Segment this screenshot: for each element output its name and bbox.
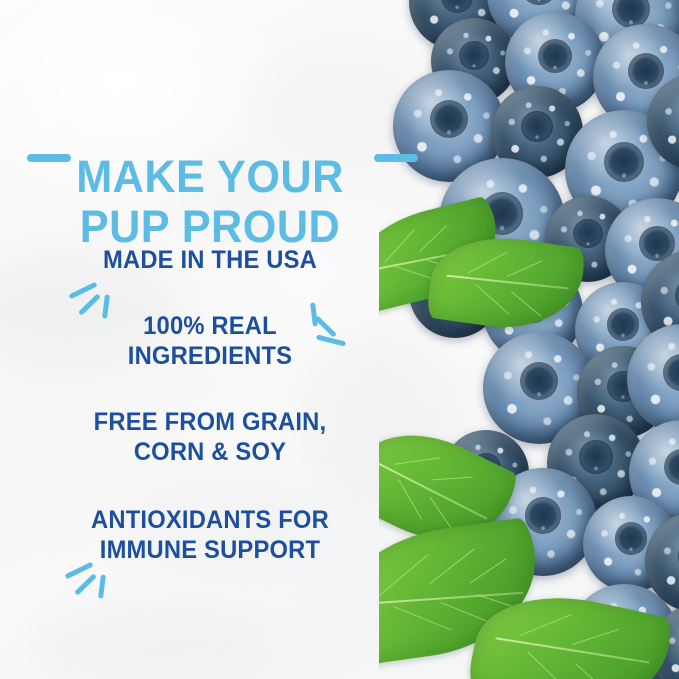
claim-item: ANTIOXIDANTS FOR IMMUNE SUPPORT: [11, 505, 410, 565]
headline-line-1: MAKE YOUR: [76, 151, 344, 202]
claims-list: MADE IN THE USA 100% REAL INGREDIENTS FR…: [0, 245, 420, 565]
copy-column: MAKE YOUR PUP PROUD MADE IN THE USA 100%…: [0, 0, 420, 679]
blueberry-mint-photo: [379, 0, 679, 679]
product-banner: MAKE YOUR PUP PROUD MADE IN THE USA 100%…: [0, 0, 679, 679]
claim-line-2: CORN & SOY: [11, 437, 410, 467]
claim-line-1: 100% REAL: [143, 312, 277, 340]
claim-item: FREE FROM GRAIN, CORN & SOY: [11, 407, 410, 467]
spark-burst-icon: [62, 558, 122, 606]
claim-item: MADE IN THE USA: [11, 245, 410, 275]
spark-burst-icon: [66, 278, 126, 326]
claim-line-1: ANTIOXIDANTS FOR: [91, 506, 329, 534]
claim-line-1: FREE FROM GRAIN,: [94, 408, 327, 436]
claim-line-1: MADE IN THE USA: [103, 246, 317, 274]
page-title: MAKE YOUR PUP PROUD: [8, 152, 411, 252]
spark-burst-icon: [300, 304, 360, 352]
